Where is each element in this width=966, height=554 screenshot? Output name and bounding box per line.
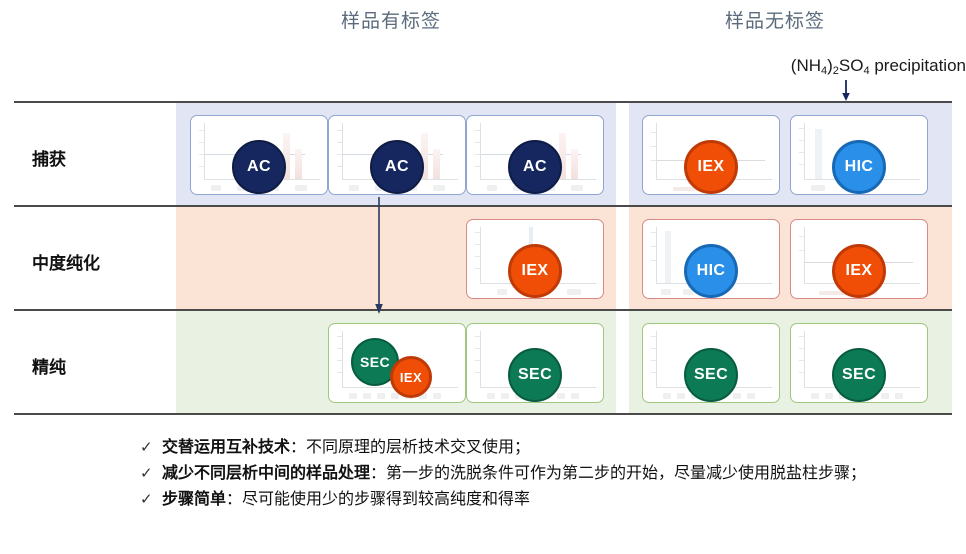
- bullet-title: 减少不同层析中间的样品处理: [162, 465, 370, 482]
- matrix-cell-intermediate-5[interactable]: IEX: [790, 219, 928, 299]
- column-header-unlabeled-sample: 样品无标签: [680, 6, 870, 33]
- matrix-cell-polishing-2[interactable]: SEC IEX: [328, 323, 466, 403]
- technique-badge-ac[interactable]: AC: [232, 140, 286, 194]
- bullet-separator: ：: [290, 439, 306, 456]
- technique-badge-iex[interactable]: IEX: [508, 244, 562, 298]
- technique-badge-sec[interactable]: SEC: [508, 348, 562, 402]
- check-icon: ✓: [140, 462, 153, 486]
- matrix-cell-polishing-5[interactable]: SEC: [790, 323, 928, 403]
- column-headers: 样品有标签 样品无标签: [0, 0, 966, 42]
- list-item: ✓减少不同层析中间的样品处理：第一步的洗脱条件可作为第二步的开始，尽量减少使用脱…: [140, 462, 960, 486]
- matrix-row-polishing: SEC IEX SEC: [176, 311, 952, 413]
- matrix-cell-capture-1[interactable]: AC: [190, 115, 328, 195]
- technique-badge-ac[interactable]: AC: [508, 140, 562, 194]
- row-label-intermediate: 中度纯化: [32, 249, 100, 274]
- matrix-cell-capture-2[interactable]: AC: [328, 115, 466, 195]
- bullet-separator: ：: [370, 465, 386, 482]
- matrix-cell-capture-4[interactable]: IEX: [642, 115, 780, 195]
- list-item: ✓步骤简单：尽可能使用少的步骤得到较高纯度和得率: [140, 488, 960, 512]
- column-header-labeled-sample: 样品有标签: [296, 6, 486, 33]
- bullet-text: 尽可能使用少的步骤得到较高纯度和得率: [242, 491, 530, 508]
- technique-badge-sec[interactable]: SEC: [684, 348, 738, 402]
- matrix-cell-polishing-4[interactable]: SEC: [642, 323, 780, 403]
- annotation-formula: (NH4)2SO4: [791, 56, 870, 75]
- matrix-cell-intermediate-3[interactable]: IEX: [466, 219, 604, 299]
- technique-badge-ac[interactable]: AC: [370, 140, 424, 194]
- matrix-rule-bottom: [14, 413, 952, 415]
- annotation-suffix: precipitation: [870, 56, 966, 75]
- matrix-cell-capture-5[interactable]: HIC: [790, 115, 928, 195]
- key-points-list: ✓交替运用互补技术：不同原理的层析技术交叉使用； ✓减少不同层析中间的样品处理：…: [140, 436, 960, 514]
- row-label-capture: 捕获: [32, 145, 66, 170]
- down-arrow-icon: [841, 80, 851, 102]
- bullet-title: 步骤简单: [162, 491, 226, 508]
- bullet-separator: ：: [226, 491, 242, 508]
- technique-badge-iex[interactable]: IEX: [684, 140, 738, 194]
- matrix-cell-intermediate-4[interactable]: HIC: [642, 219, 780, 299]
- matrix-cell-polishing-3[interactable]: SEC: [466, 323, 604, 403]
- purification-matrix: AC AC: [14, 101, 952, 415]
- row-label-polishing: 精纯: [32, 353, 66, 378]
- matrix-row-intermediate: IEX HIC IEX: [176, 207, 952, 309]
- technique-badge-sec[interactable]: SEC: [832, 348, 886, 402]
- matrix-cell-capture-3[interactable]: AC: [466, 115, 604, 195]
- check-icon: ✓: [140, 488, 153, 512]
- technique-badge-hic[interactable]: HIC: [684, 244, 738, 298]
- matrix-row-capture: AC AC: [176, 103, 952, 205]
- technique-badge-hic[interactable]: HIC: [832, 140, 886, 194]
- check-icon: ✓: [140, 436, 153, 460]
- process-flow-down-arrow-icon: [374, 197, 384, 315]
- technique-badge-iex[interactable]: IEX: [832, 244, 886, 298]
- bullet-title: 交替运用互补技术: [162, 439, 290, 456]
- precipitation-annotation: (NH4)2SO4 precipitation: [700, 56, 966, 76]
- bullet-text: 不同原理的层析技术交叉使用；: [306, 439, 530, 456]
- bullet-text: 第一步的洗脱条件可作为第二步的开始，尽量减少使用脱盐柱步骤；: [386, 465, 866, 482]
- technique-badge-iex[interactable]: IEX: [390, 356, 432, 398]
- list-item: ✓交替运用互补技术：不同原理的层析技术交叉使用；: [140, 436, 960, 460]
